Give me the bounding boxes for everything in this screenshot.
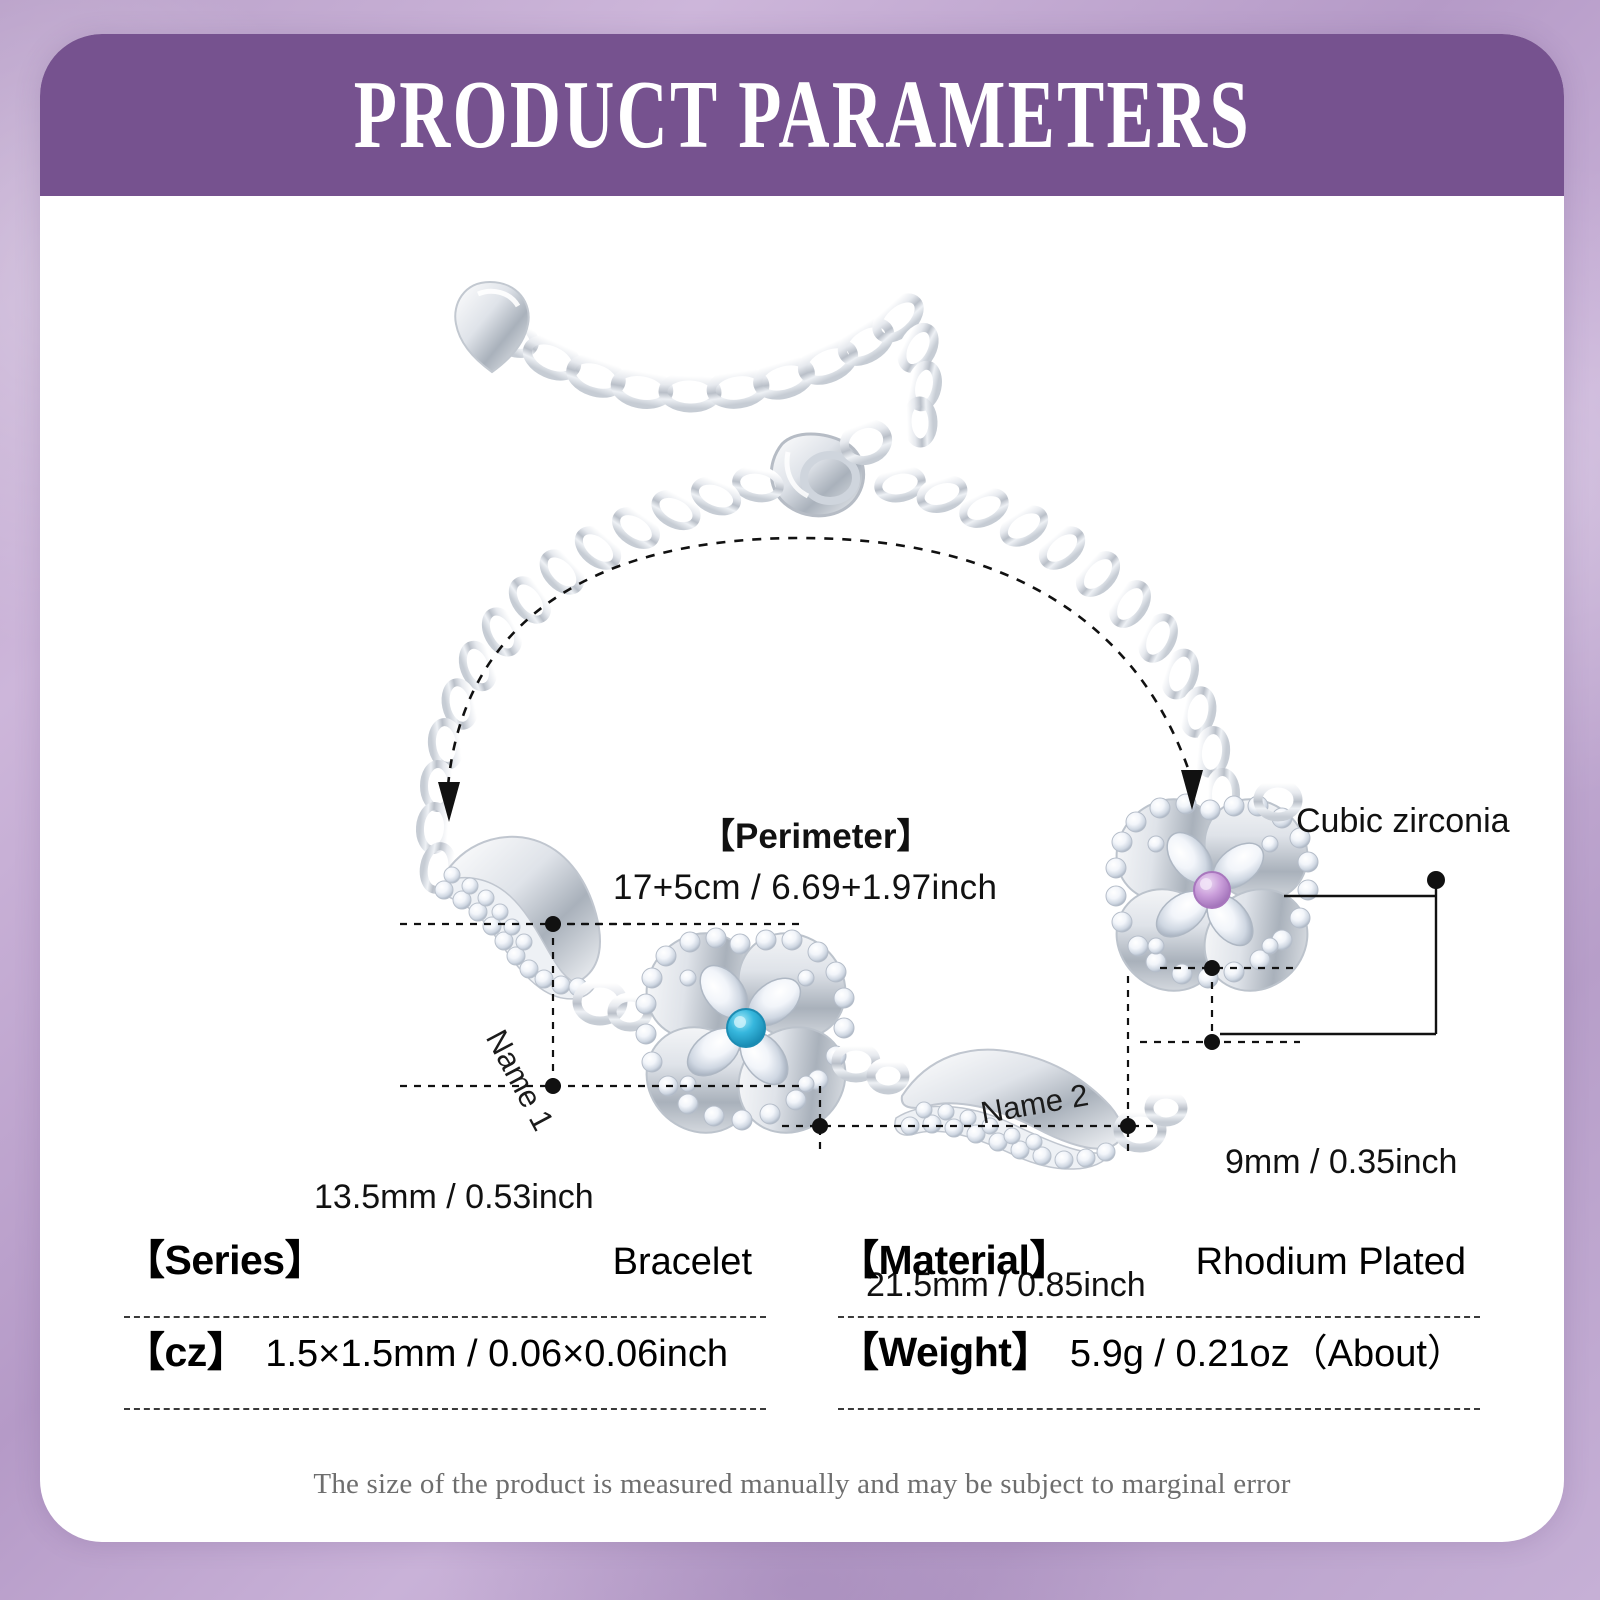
- disclaimer-text: The size of the product is measured manu…: [40, 1468, 1564, 1501]
- spec-key-material: 【Material】: [838, 1226, 1070, 1286]
- dim-dot-b: [545, 1078, 561, 1094]
- bracelet-diagram: [40, 196, 1564, 1226]
- spec-value-weight: 5.9g / 0.21oz（About）: [1070, 1322, 1465, 1377]
- spec-value-series: Bracelet: [613, 1241, 766, 1284]
- page-title: PRODUCT PARAMETERS: [353, 59, 1250, 170]
- spec-key-cz: 【cz】: [124, 1318, 247, 1378]
- spec-row-series: 【Series】 Bracelet: [124, 1226, 766, 1318]
- product-illustration: 【Perimeter】 17+5cm / 6.69+1.97inch Cubic…: [40, 196, 1564, 1226]
- cubic-zirconia-label: Cubic zirconia: [1296, 802, 1510, 841]
- spec-row-cz: 【cz】 1.5×1.5mm / 0.06×0.06inch: [124, 1318, 766, 1410]
- dimension-label-pendant-height: 13.5mm / 0.53inch: [314, 1178, 594, 1217]
- header-banner: PRODUCT PARAMETERS: [40, 34, 1564, 196]
- dim-dot-e: [1204, 960, 1220, 976]
- clover-charm-blue: [625, 911, 867, 1154]
- spec-row-material: 【Material】 Rhodium Plated: [838, 1226, 1480, 1318]
- spec-value-material: Rhodium Plated: [1196, 1241, 1480, 1284]
- dimension-label-charm-height: 9mm / 0.35inch: [1225, 1143, 1457, 1182]
- product-parameters-card: PRODUCT PARAMETERS: [40, 34, 1564, 1542]
- spec-row-weight: 【Weight】 5.9g / 0.21oz（About）: [838, 1318, 1480, 1410]
- spec-key-series: 【Series】: [124, 1226, 325, 1286]
- lobster-clasp: [771, 418, 892, 516]
- spec-value-cz: 1.5×1.5mm / 0.06×0.06inch: [265, 1333, 728, 1376]
- connector-rings-center: [836, 1046, 905, 1090]
- dim-dot-f: [1204, 1034, 1220, 1050]
- leader-dot-cz: [1427, 871, 1445, 889]
- end-tag-charm: [455, 282, 528, 372]
- spec-key-weight: 【Weight】: [838, 1318, 1052, 1378]
- dim-dot-a: [545, 916, 561, 932]
- perimeter-value: 17+5cm / 6.69+1.97inch: [613, 868, 997, 908]
- dim-dot-d: [1120, 1118, 1136, 1134]
- center-stone-purple: [1194, 872, 1230, 908]
- name-plate-1: [435, 837, 600, 999]
- perimeter-label: 【Perimeter】: [700, 808, 931, 859]
- center-stone-blue: [727, 1009, 765, 1047]
- dim-dot-c: [812, 1118, 828, 1134]
- arrowhead-left: [438, 782, 460, 822]
